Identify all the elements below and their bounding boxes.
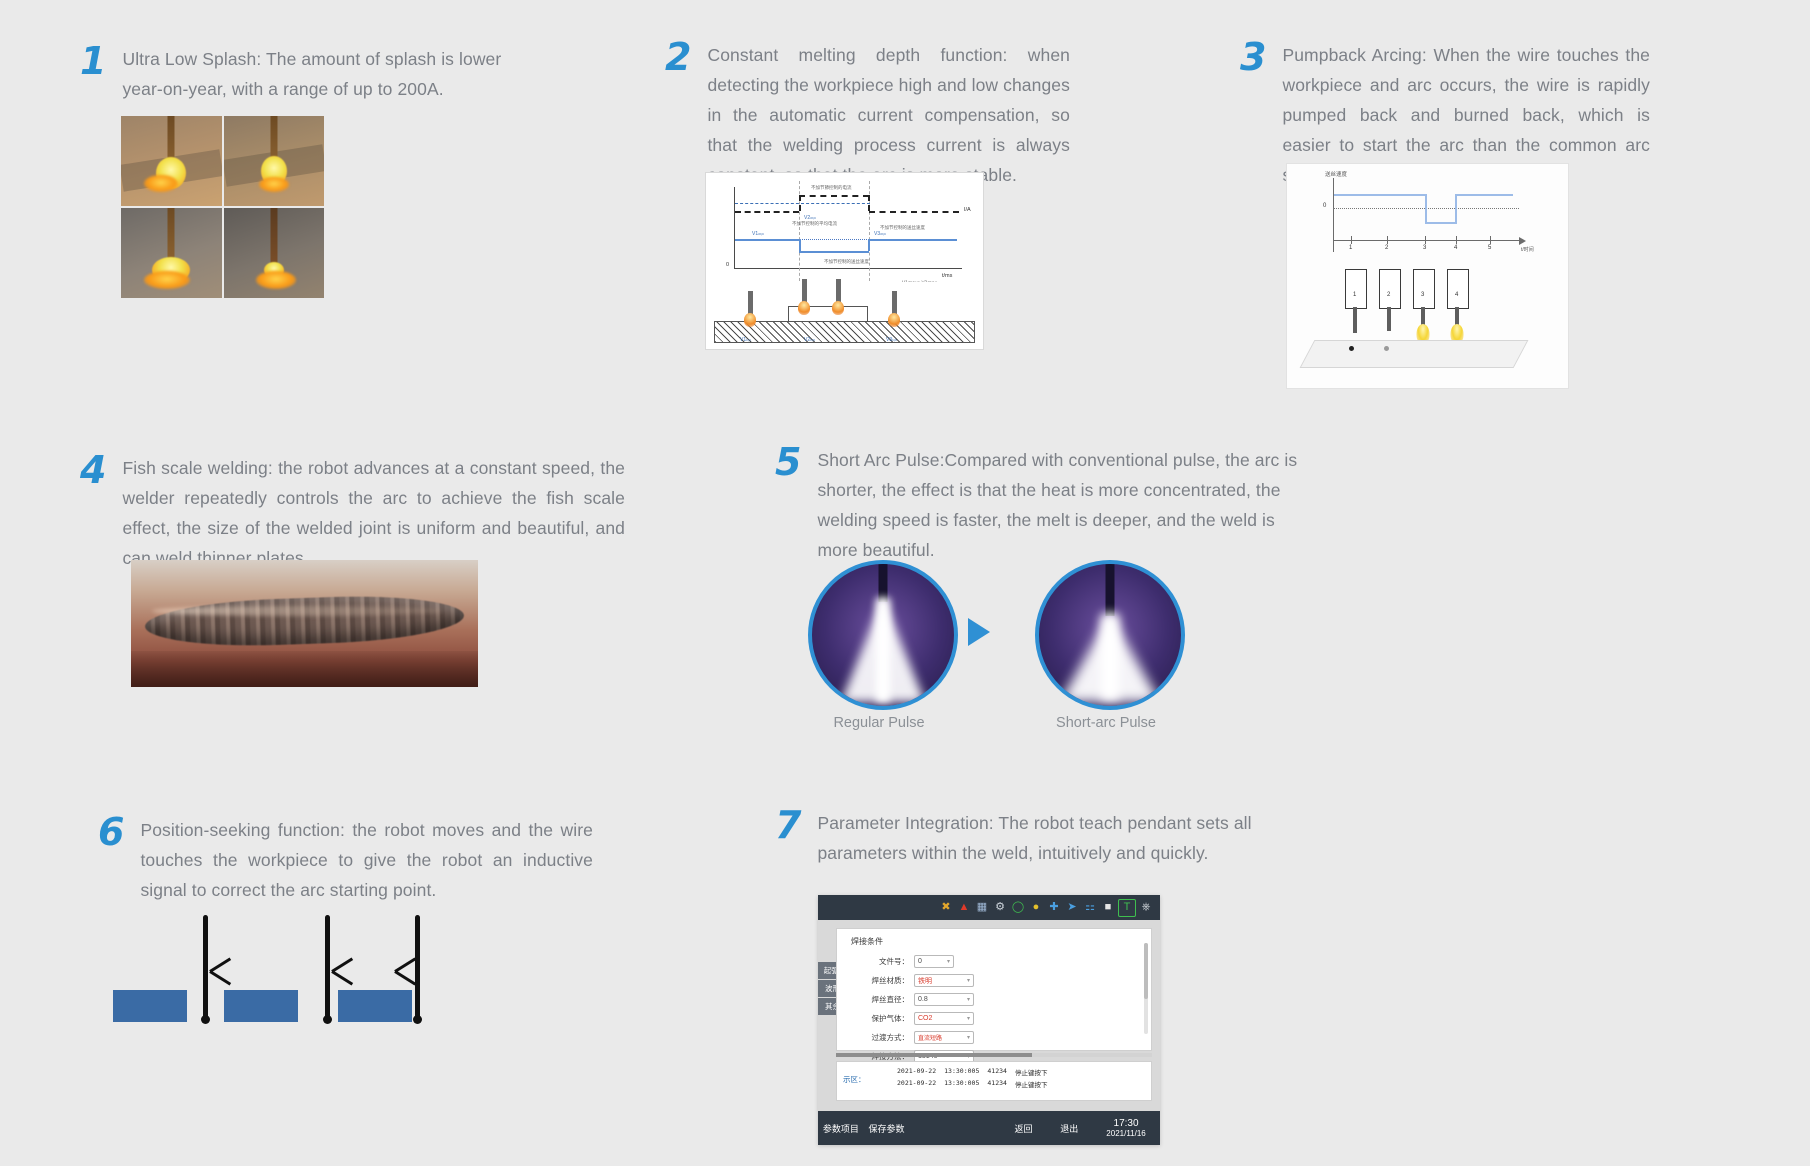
feature-block-6: 6 Position-seeking function: the robot m… [98,815,593,905]
wirefeed-rise [868,239,870,251]
short-arc-pulse-image [1035,560,1185,710]
feature-5-heading: 5 Short Arc Pulse:Compared with conventi… [775,445,1300,565]
electrode [879,564,888,602]
welding-wire [270,208,277,264]
move-axis-icon[interactable]: ✚ [1046,900,1062,916]
feature-1-heading: 1 Ultra Low Splash: The amount of splash… [80,44,530,104]
feature-2-text: Constant melting depth function: when de… [707,40,1070,190]
field-shielding-gas: 保护气体： CO2 ▾ [857,1012,974,1025]
field-file-number-select[interactable]: 0 ▾ [914,955,954,968]
chevron-down-icon: ▾ [967,996,970,1003]
tick-label-5: 5 [1488,245,1491,251]
electrode [1106,564,1115,616]
chart3-y-axis-label: 送丝速度 [1325,170,1347,178]
feature-7-text: Parameter Integration: The robot teach p… [817,808,1275,868]
cross-tool-icon[interactable]: ✖ [938,900,954,916]
field-wire-diameter-select[interactable]: 0.8 ▾ [914,993,974,1006]
teach-mode-icon[interactable]: T [1118,899,1136,917]
seek-wire-1 [203,915,208,1020]
field-transfer-mode-value: 直流短路 [918,1033,942,1042]
torch-2-arc [798,301,810,315]
stage-box-1: 1 [1345,269,1367,309]
wirefeed-rise [1455,194,1457,224]
log-row-code: 41234 [987,1067,1007,1077]
pendant-clock-time: 17:30 [1092,1118,1160,1130]
bottom-button-back[interactable]: 返回 [1001,1122,1047,1135]
splash-photo-2 [224,116,325,206]
chevron-down-icon: ▾ [947,958,950,965]
feature-6-heading: 6 Position-seeking function: the robot m… [98,815,593,905]
wirefeed-low-seg [1425,222,1457,224]
series-current-seg2 [799,195,869,197]
seek-workpiece-2 [224,990,298,1022]
pendant-body: 起弧/收弧 波形参数 其余参数 焊接条件 文件号： 0 ▾ 焊丝材质： 铁明 [818,920,1160,1111]
field-shielding-gas-label: 保护气体： [857,1013,909,1024]
seek-contact-dot-3 [413,1015,422,1024]
robot-icon[interactable]: ⚙ [992,900,1008,916]
chart-pumpback-arcing: 送丝速度 0 1 2 3 4 5 t/时间 1 2 3 4 [1286,163,1569,389]
feature-4-heading: 4 Fish scale welding: the robot advances… [80,453,625,573]
workpiece-plane [1300,340,1529,368]
field-wire-material-label: 焊丝材质： [857,975,909,986]
feature-4-number: 4 [80,453,106,487]
weld-bead [144,593,465,650]
log-row-date: 2021-09-22 [897,1067,936,1077]
series-current-seg3 [869,211,959,213]
horizontal-scroll-thumb[interactable] [836,1053,1032,1057]
seek-workpiece-1 [113,990,187,1022]
horizontal-scrollbar[interactable] [836,1053,1152,1057]
field-file-number-value: 0 [918,958,922,965]
field-transfer-mode: 过渡方式： 直流短路 ▾ [857,1031,974,1044]
annotation-wirefeed-speed: 不加节控制的送丝速度 [880,225,925,231]
y-axis [734,187,735,269]
welding-wire [168,208,175,260]
stage-box-1-label: 1 [1353,292,1356,298]
wirefeed-high-seg2 [1455,194,1513,196]
weld-settings-icon[interactable]: ⚏ [1082,900,1098,916]
infographic-page: 1 Ultra Low Splash: The amount of splash… [0,0,1810,1166]
feature-block-5: 5 Short Arc Pulse:Compared with conventi… [775,445,1300,565]
arc-core-short [1101,614,1119,700]
feature-2-heading: 2 Constant melting depth function: when … [665,40,1070,190]
feature-6-number: 6 [98,815,124,849]
tick-label-2: 2 [1385,245,1388,251]
annotation-wirefeed-speed-2: 不加节控制的送丝速度 [824,259,869,265]
message-log-panel: 示区： 2021-09-22 13:30:005 41234 停止键按下 202… [836,1061,1152,1101]
arc-icon[interactable]: ➤ [1064,900,1080,916]
chart3-x-axis [1333,240,1523,241]
feature-2-number: 2 [665,40,691,74]
torch-4-arc [888,313,900,327]
y-axis-label: I/A [964,207,971,213]
seek-contact-dot-1 [201,1015,210,1024]
chart2-plot-area: 不加节節控制的电流 不加节控制的平均电流 不加节控制的送丝速度 不加节控制的送丝… [706,173,983,282]
splash-photo-4 [224,208,325,298]
y-zero-label: 0 [726,262,729,268]
splash-photo-3 [121,208,222,298]
helmet-icon[interactable]: ● [1028,900,1044,916]
series-current-seg1 [735,211,799,213]
feature-3-number: 3 [1240,40,1266,74]
wirefeed-seg2 [799,251,869,253]
circle-arrow-icon[interactable]: ◯ [1010,900,1026,916]
stage-box-3: 3 [1413,269,1435,309]
weld-pool [144,175,178,192]
log-row-time: 13:30:005 [944,1079,979,1089]
network-icon[interactable]: ▦ [974,900,990,916]
warning-icon[interactable]: ▲ [956,900,972,916]
torch-3-arc [832,301,844,315]
welding-conditions-card: 焊接条件 文件号： 0 ▾ 焊丝材质： 铁明 ▾ 焊丝直径： [836,928,1152,1051]
weld-shadow [131,651,478,687]
field-wire-diameter-value: 0.8 [918,996,928,1003]
speed-label-1: V1ₘᵢₙ [752,231,764,237]
weld-pool [144,271,190,289]
tick-label-3: 3 [1423,245,1426,251]
torch-1-arc [744,313,756,327]
annotation-avg-current: 不加节控制的平均电流 [792,221,837,227]
seek-arrow-3b-icon [394,958,416,973]
log-row-time: 13:30:005 [944,1067,979,1077]
field-wire-diameter: 焊丝直径： 0.8 ▾ [857,993,974,1006]
feature-block-1: 1 Ultra Low Splash: The amount of splash… [80,44,530,104]
log-row-date: 2021-09-22 [897,1079,936,1089]
bottom-button-exit[interactable]: 退出 [1046,1122,1092,1135]
pendant-status-bar: ✖ ▲ ▦ ⚙ ◯ ● ✚ ➤ ⚏ ■ T ⎈ [818,895,1160,920]
seek-workpiece-3 [338,990,412,1022]
field-shielding-gas-value: CO2 [918,1015,932,1022]
feature-5-text: Short Arc Pulse:Compared with convention… [817,445,1300,565]
chart3-x-axis-label: t/时间 [1521,246,1534,253]
tick-label-4: 4 [1454,245,1457,251]
annotation-current-no-control: 不加节節控制的电流 [811,185,852,191]
torch-1 [748,291,753,315]
card-vertical-scroll-thumb[interactable] [1144,943,1148,999]
wirefeed-seg1 [735,239,799,241]
feature-block-7: 7 Parameter Integration: The robot teach… [775,808,1275,868]
screen-icon[interactable]: ■ [1100,900,1116,916]
log-row-message: 停止键按下 [1015,1079,1048,1089]
tick-2 [1387,236,1388,244]
pendant-clock-date: 2021/11/16 [1106,1129,1145,1138]
x-axis [734,268,962,269]
stage-box-4: 4 [1447,269,1469,309]
field-wire-material-select[interactable]: 铁明 ▾ [914,974,974,987]
tick-label-1: 1 [1349,245,1352,251]
feature-block-2: 2 Constant melting depth function: when … [665,40,1070,190]
seek-wire-2 [325,915,330,1020]
field-transfer-mode-select[interactable]: 直流短路 ▾ [914,1031,974,1044]
seek-contact-dot-2 [323,1015,332,1024]
ultra-low-splash-photo-grid [121,116,324,298]
stage-2-wire [1387,307,1391,331]
bottom-button-save-parameters[interactable]: 保存参数 [864,1122,910,1135]
log-row: 2021-09-22 13:30:005 41234 停止键按下 [837,1078,1151,1090]
torch-3 [836,279,841,303]
fish-scale-weld-photo [131,560,478,687]
stage-box-3-label: 3 [1421,292,1424,298]
stage-box-2-label: 2 [1387,292,1390,298]
field-transfer-mode-label: 过渡方式： [857,1032,909,1043]
regular-pulse-image [808,560,958,710]
tick-3 [1425,236,1426,244]
torch-4 [892,291,897,315]
stage-box-4-label: 4 [1455,292,1458,298]
field-file-number: 文件号： 0 ▾ [857,955,954,968]
seek-arrow-1b-icon [209,970,231,985]
weld-bead-highlight [152,606,444,616]
log-row-code: 41234 [987,1079,1007,1089]
teach-pendant-screenshot[interactable]: ✖ ▲ ▦ ⚙ ◯ ● ✚ ➤ ⚏ ■ T ⎈ 起弧/收弧 波形参数 其余参数 … [818,895,1160,1145]
chevron-down-icon: ▾ [967,1034,970,1041]
feature-6-text: Position-seeking function: the robot mov… [140,815,593,905]
log-row-message: 停止键按下 [1015,1067,1048,1077]
pulse-comparison: Regular Pulse Short-arc Pulse [800,560,1200,720]
card-vertical-scrollbar[interactable] [1144,943,1148,1034]
chart3-zero-label: 0 [1323,203,1326,209]
feature-7-heading: 7 Parameter Integration: The robot teach… [775,808,1275,868]
feature-block-4: 4 Fish scale welding: the robot advances… [80,453,625,573]
contact-point-1 [1349,346,1354,351]
field-file-number-label: 文件号： [857,956,909,967]
weld-pool [259,177,289,192]
field-wire-material-value: 铁明 [918,976,932,986]
tick-5 [1490,236,1491,244]
splash-photo-1 [121,116,222,206]
seek-arrow-3-icon [394,970,416,985]
feature-1-text: Ultra Low Splash: The amount of splash i… [122,44,530,104]
power-icon[interactable]: ⎈ [1138,900,1154,916]
tick-1 [1351,236,1352,244]
wirefeed-drop [799,239,801,251]
chevron-down-icon: ▾ [967,977,970,984]
tick-4 [1456,236,1457,244]
feature-7-number: 7 [775,808,801,842]
avg-current-reference [735,203,870,204]
torch-label-3: V3ₖᵢₙ [886,337,897,343]
position-seeking-diagram [110,915,455,1035]
log-row: 2021-09-22 13:30:005 41234 停止键按下 [837,1066,1151,1078]
x-axis-label: t/ms [942,273,952,279]
torch-label-2: V2ₖᵢₙ [804,337,815,343]
contact-point-2 [1384,346,1389,351]
field-wire-material: 焊丝材质： 铁明 ▾ [857,974,974,987]
torch-2 [802,279,807,303]
bottom-button-parameter-items[interactable]: 参数项目 [818,1122,864,1135]
feature-4-text: Fish scale welding: the robot advances a… [122,453,625,573]
wirefeed-drop [1425,194,1427,224]
speed-label-2: V2ₘᵢₙ [804,215,816,221]
seek-arrow-2b-icon [331,970,353,985]
seek-wire-3 [415,915,420,1020]
speed-label-3: V3ₘᵢₙ [874,231,886,237]
card-title: 焊接条件 [851,936,883,947]
wirefeed-seg3 [869,239,957,241]
field-wire-diameter-label: 焊丝直径： [857,994,909,1005]
pendant-bottom-bar: 参数项目 保存参数 返回 退出 17:30 2021/11/16 [818,1111,1160,1145]
log-label: 示区： [843,1074,866,1085]
feature-1-number: 1 [80,44,106,78]
short-arc-pulse-caption: Short-arc Pulse [1035,715,1177,731]
torch-label-1: V1ₖᵢₙ [740,337,751,343]
weld-pool [256,271,296,289]
chart-constant-melting-depth: 不加节節控制的电流 不加节控制的平均电流 不加节控制的送丝速度 不加节控制的送丝… [705,172,984,350]
stage-1-wire [1353,307,1357,333]
chevron-down-icon: ▾ [967,1015,970,1022]
wirefeed-high-seg1 [1334,194,1426,196]
regular-pulse-caption: Regular Pulse [808,715,950,731]
comparison-arrow-icon [968,618,990,646]
chart2-workpiece-diagram: V1ₖᵢₙ V2ₖᵢₙ V3ₖᵢₙ [706,282,983,349]
chart3-x-arrow [1519,237,1526,245]
stage-box-2: 2 [1379,269,1401,309]
feature-5-number: 5 [775,445,801,479]
arc-core-regular [876,598,890,702]
pendant-clock: 17:30 2021/11/16 [1092,1118,1160,1139]
field-shielding-gas-select[interactable]: CO2 ▾ [914,1012,974,1025]
